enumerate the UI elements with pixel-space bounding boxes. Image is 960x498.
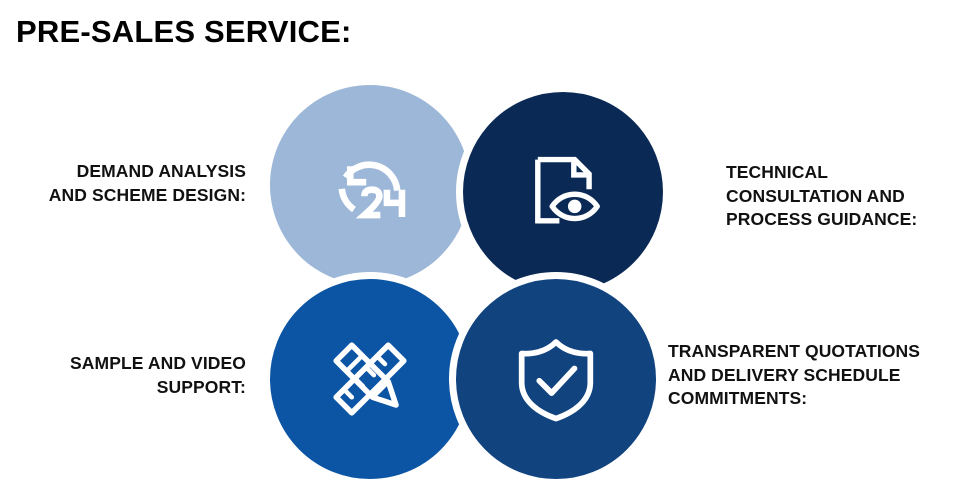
circle-demand-analysis[interactable] bbox=[270, 85, 470, 285]
label-demand-analysis: DEMAND ANALYSIS AND SCHEME DESIGN: bbox=[0, 160, 246, 207]
shield-check-icon bbox=[508, 331, 604, 427]
circle-transparent-quotations[interactable] bbox=[449, 272, 663, 486]
pencil-ruler-icon bbox=[322, 331, 418, 427]
label-transparent-quotations: TRANSPARENT QUOTATIONS AND DELIVERY SCHE… bbox=[668, 340, 960, 411]
circle-cluster bbox=[270, 85, 670, 479]
document-eye-icon bbox=[515, 144, 611, 240]
page-title: PRE-SALES SERVICE: bbox=[16, 14, 352, 50]
rotate-24-hours-icon bbox=[322, 137, 418, 233]
circle-technical-consultation[interactable] bbox=[456, 85, 670, 299]
circle-sample-video-support[interactable] bbox=[263, 272, 477, 486]
label-technical-consultation: TECHNICAL CONSULTATION AND PROCESS GUIDA… bbox=[726, 161, 958, 232]
label-sample-video-support: SAMPLE AND VIDEO SUPPORT: bbox=[0, 352, 246, 399]
